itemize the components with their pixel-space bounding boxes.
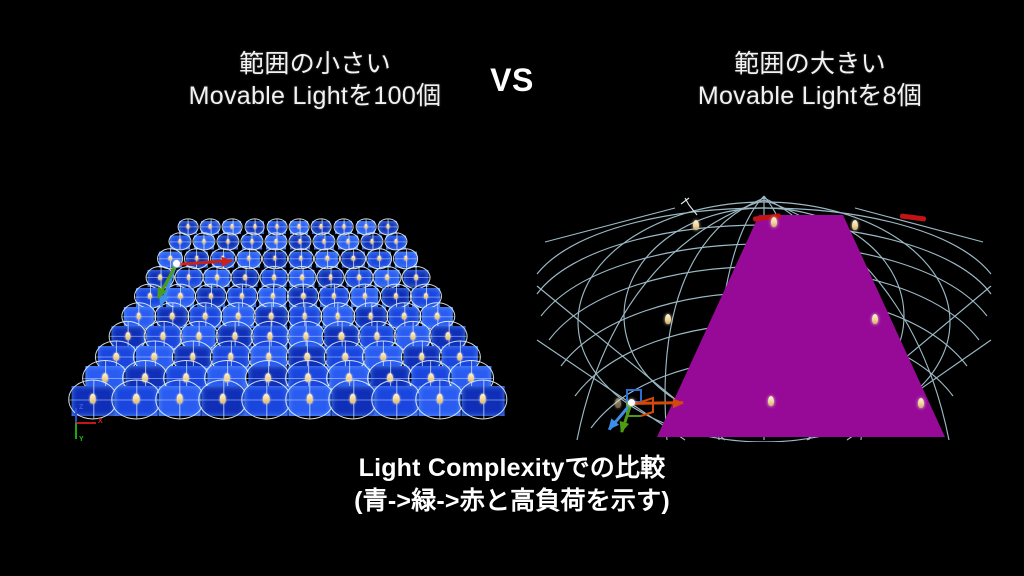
light-bulb-icon <box>240 293 244 300</box>
light-bulb-icon <box>339 332 344 340</box>
light-bulb-icon <box>209 293 213 300</box>
axis-indicator-svg <box>68 403 114 445</box>
light-bulb-icon <box>114 352 120 361</box>
gizmo-center-handle[interactable] <box>628 399 635 406</box>
list-item[interactable] <box>852 220 858 230</box>
light-bulb-icon <box>187 274 191 280</box>
light-bulb-icon <box>298 239 301 244</box>
light-bulb-icon <box>268 332 273 340</box>
light-bulb-icon <box>335 312 340 319</box>
light-bulb-icon <box>125 332 130 340</box>
list-item[interactable] <box>918 398 924 408</box>
gizmo-center-handle[interactable] <box>173 260 180 267</box>
floor-edge-highlight-right <box>900 213 926 221</box>
light-bulb-icon <box>302 312 307 319</box>
light-bulb-icon <box>232 332 237 340</box>
light-bulb-icon <box>158 274 162 280</box>
light-bulb-icon <box>480 394 486 404</box>
light-bulb-icon <box>320 224 323 229</box>
light-bulb-icon <box>414 274 418 280</box>
light-bulb-icon <box>350 394 356 404</box>
light-bulb-icon <box>387 224 390 229</box>
light-bulb-icon <box>364 224 367 229</box>
light-bulb-icon <box>435 312 440 319</box>
light-bulb-icon <box>357 274 361 280</box>
light-bulb-icon <box>148 293 152 300</box>
list-item[interactable] <box>771 217 777 227</box>
axis-orientation-indicator: Z X Y <box>68 403 114 445</box>
axis-label-z: Z <box>79 404 83 411</box>
light-bulb-icon <box>133 394 139 404</box>
right-magenta-floor <box>645 215 945 437</box>
light-bulb-icon <box>457 352 463 361</box>
light-bulb-icon <box>306 394 312 404</box>
light-bulb-icon <box>301 293 305 300</box>
light-bulb-icon <box>269 312 274 319</box>
light-bulb-icon <box>332 293 336 300</box>
light-bulb-icon <box>410 332 415 340</box>
light-bulb-icon <box>176 394 182 404</box>
slide-caption: Light Complexityでの比較 (青->緑->赤と高負荷を示す) <box>0 452 1024 517</box>
light-bulb-icon <box>170 312 175 319</box>
light-bulb-icon <box>395 239 398 244</box>
light-bulb-icon <box>236 312 241 319</box>
light-bulb-icon <box>393 293 397 300</box>
light-bulb-icon <box>303 332 308 340</box>
light-bulb-icon <box>253 224 256 229</box>
light-bulb-icon <box>342 224 345 229</box>
light-bulb-icon <box>271 293 275 300</box>
gizmo-x-axis-arrow[interactable] <box>631 401 683 405</box>
axis-label-x: X <box>98 418 103 425</box>
light-bulb-icon <box>263 394 269 404</box>
light-bulb-icon <box>137 312 142 319</box>
light-bulb-icon <box>274 239 277 244</box>
light-bulb-icon <box>202 239 205 244</box>
light-bulb-icon <box>178 239 181 244</box>
light-bulb-icon <box>393 394 399 404</box>
light-bulb-icon <box>402 312 407 319</box>
light-bulb-icon <box>298 224 301 229</box>
light-bulb-icon <box>178 293 182 300</box>
vs-label: VS <box>472 62 552 99</box>
right-panel-title: 範囲の大きい Movable Lightを8個 <box>620 48 1000 112</box>
left-panel-title: 範囲の小さい Movable Lightを100個 <box>120 48 510 112</box>
light-bulb-icon <box>329 274 333 280</box>
list-item[interactable] <box>768 396 774 406</box>
slide-canvas: 範囲の小さい Movable Lightを100個 VS 範囲の大きい Mova… <box>0 0 1024 576</box>
light-bulb-icon <box>203 312 208 319</box>
light-bulb-icon <box>250 239 253 244</box>
light-bulb-icon <box>446 332 451 340</box>
light-bulb-icon <box>363 293 367 300</box>
light-bulb-icon <box>371 239 374 244</box>
light-bulb-icon <box>231 224 234 229</box>
light-bulb-icon <box>209 224 212 229</box>
list-item[interactable] <box>665 314 671 324</box>
top-light-marker <box>681 198 697 215</box>
list-item[interactable] <box>693 220 699 230</box>
light-bulb-icon <box>161 332 166 340</box>
light-bulb-icon <box>347 239 350 244</box>
left-viewport-100-lights[interactable]: Z X Y <box>30 185 525 445</box>
light-bulb-icon <box>244 274 248 280</box>
light-bulb-icon <box>385 274 389 280</box>
light-bulb-icon <box>275 224 278 229</box>
light-bulb-icon <box>369 312 374 319</box>
light-bulb-icon <box>424 293 428 300</box>
right-viewport-8-lights[interactable] <box>535 190 993 442</box>
light-bulb-icon <box>215 274 219 280</box>
light-bulb-icon <box>300 274 304 280</box>
light-bulb-icon <box>272 274 276 280</box>
light-bulb-icon <box>196 332 201 340</box>
list-item[interactable] <box>872 314 878 324</box>
light-bulb-icon <box>436 394 442 404</box>
light-bulb-icon <box>187 224 190 229</box>
light-bulb-icon <box>323 239 326 244</box>
light-bulb-icon <box>226 239 229 244</box>
axis-label-y: Y <box>79 436 84 443</box>
light-bulb-icon <box>220 394 226 404</box>
light-bulb-icon <box>375 332 380 340</box>
